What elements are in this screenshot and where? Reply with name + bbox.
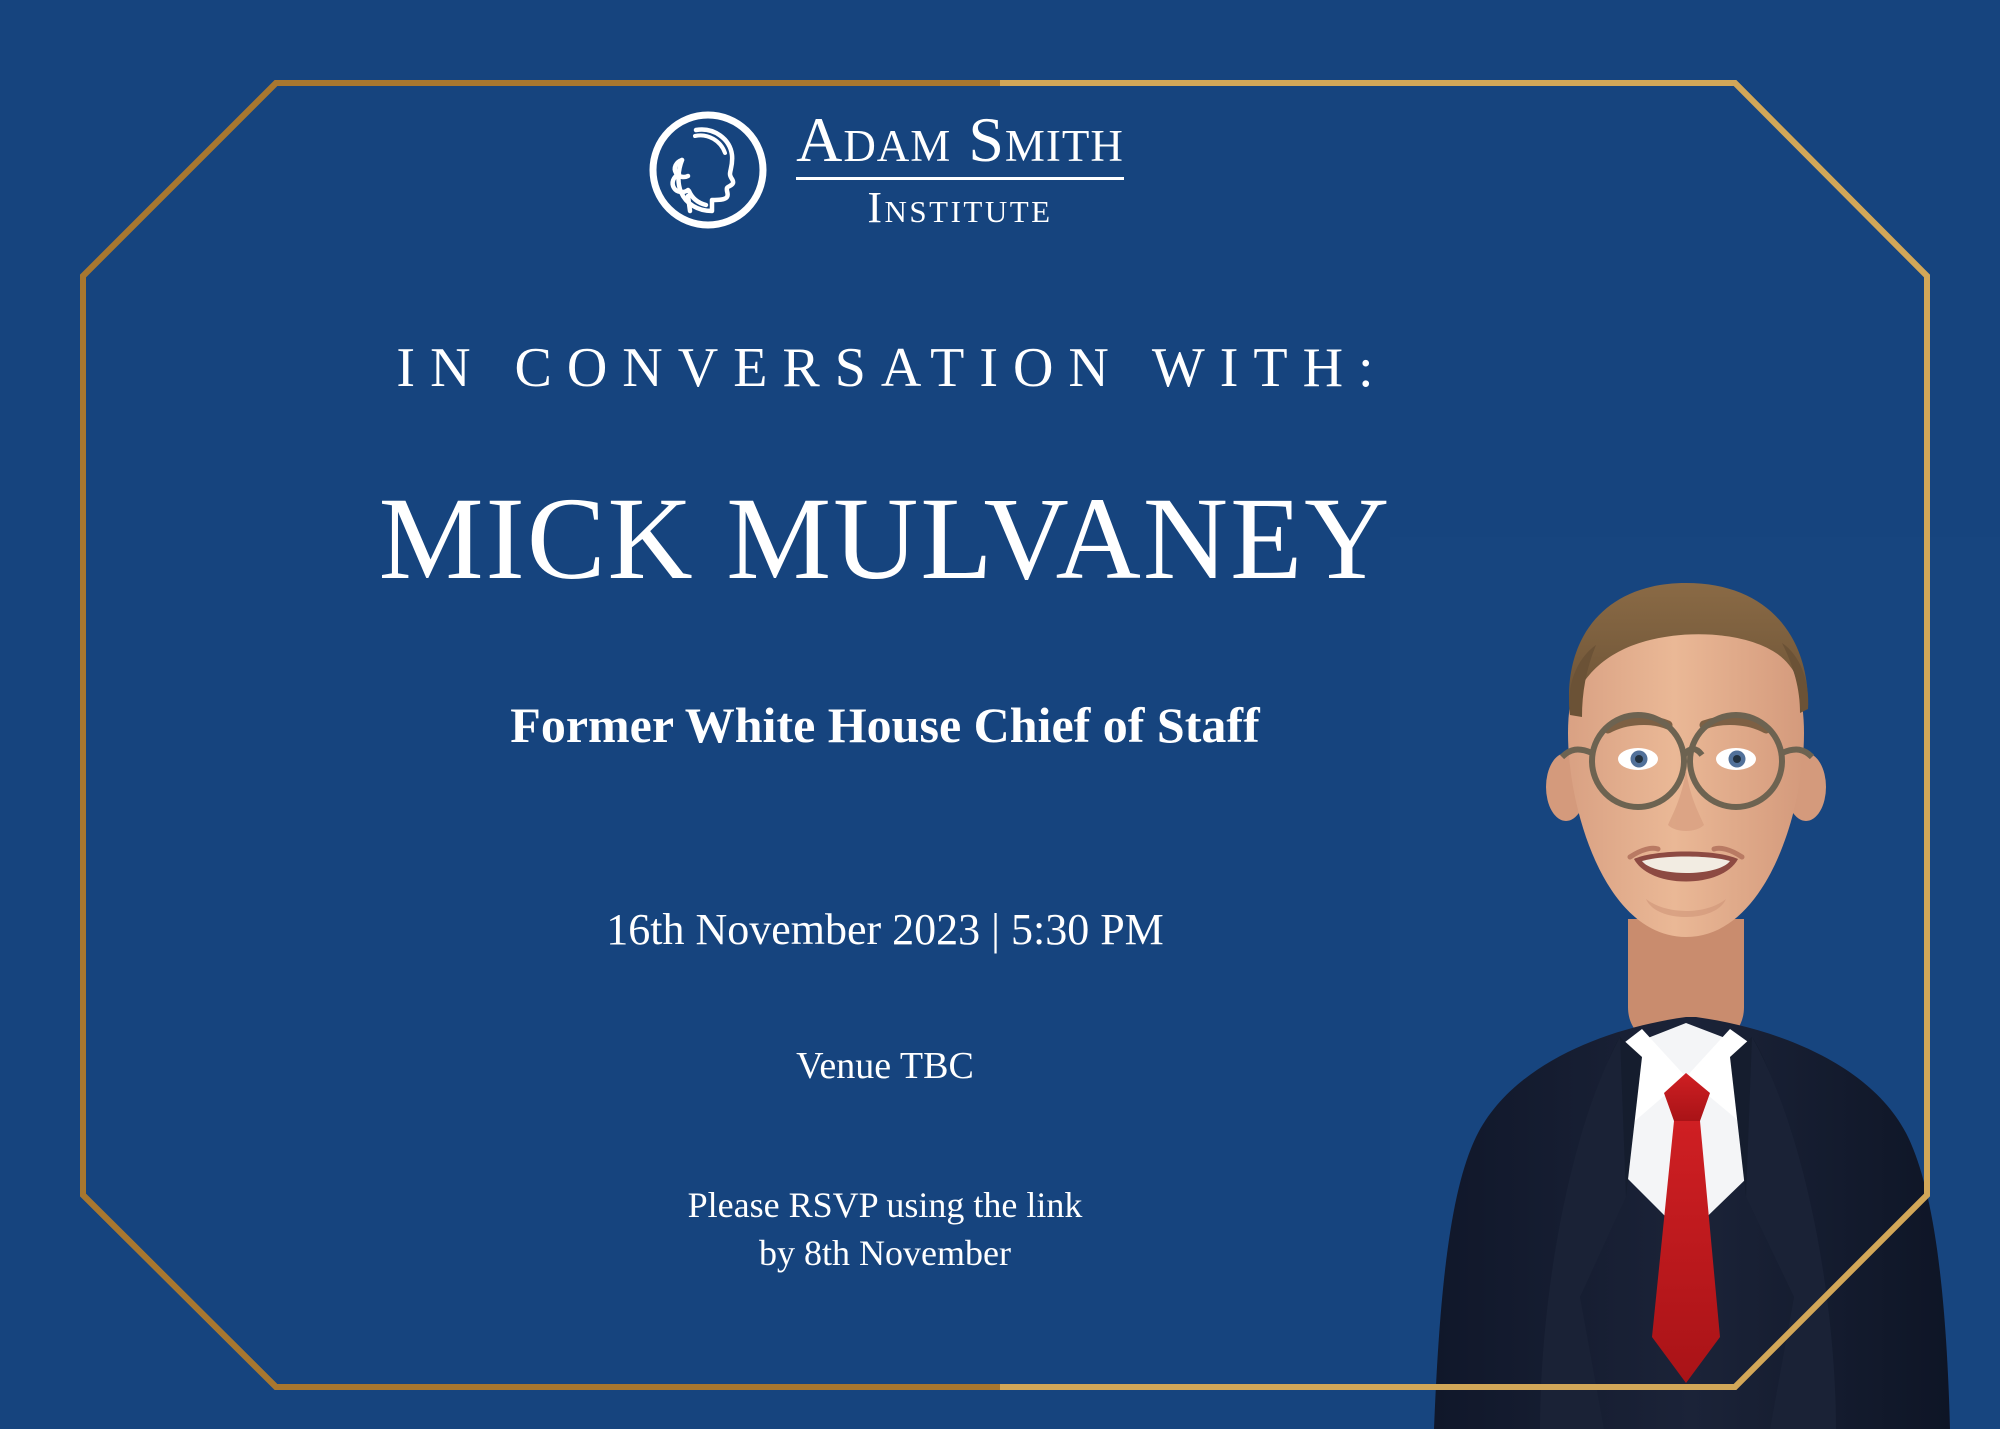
rsvp-instructions: Please RSVP using the link by 8th Novemb… [0,1182,1770,1277]
kicker-in-conversation-with: IN CONVERSATION WITH: [0,340,1770,396]
speaker-title-subtitle: Former White House Chief of Staff [0,700,1770,750]
event-invitation-poster: Adam Smith Institute IN CONVERSATION WIT… [0,0,2000,1429]
rsvp-line-2: by 8th November [0,1230,1770,1278]
adam-smith-profile-emblem-icon [646,108,770,232]
logo-line-adam-smith: Adam Smith [796,110,1124,170]
speaker-portrait-photo [1390,537,2000,1429]
adam-smith-institute-logo: Adam Smith Institute [0,108,1770,232]
logo-wordmark: Adam Smith Institute [796,110,1124,230]
event-venue: Venue TBC [0,1047,1770,1085]
speaker-portrait-illustration [1390,537,2000,1429]
logo-line-institute: Institute [867,186,1052,230]
rsvp-line-1: Please RSVP using the link [0,1182,1770,1230]
logo-divider-rule [796,177,1124,180]
speaker-name-headline: MICK MULVANEY [0,480,1770,598]
event-datetime: 16th November 2023 | 5:30 PM [0,908,1770,952]
